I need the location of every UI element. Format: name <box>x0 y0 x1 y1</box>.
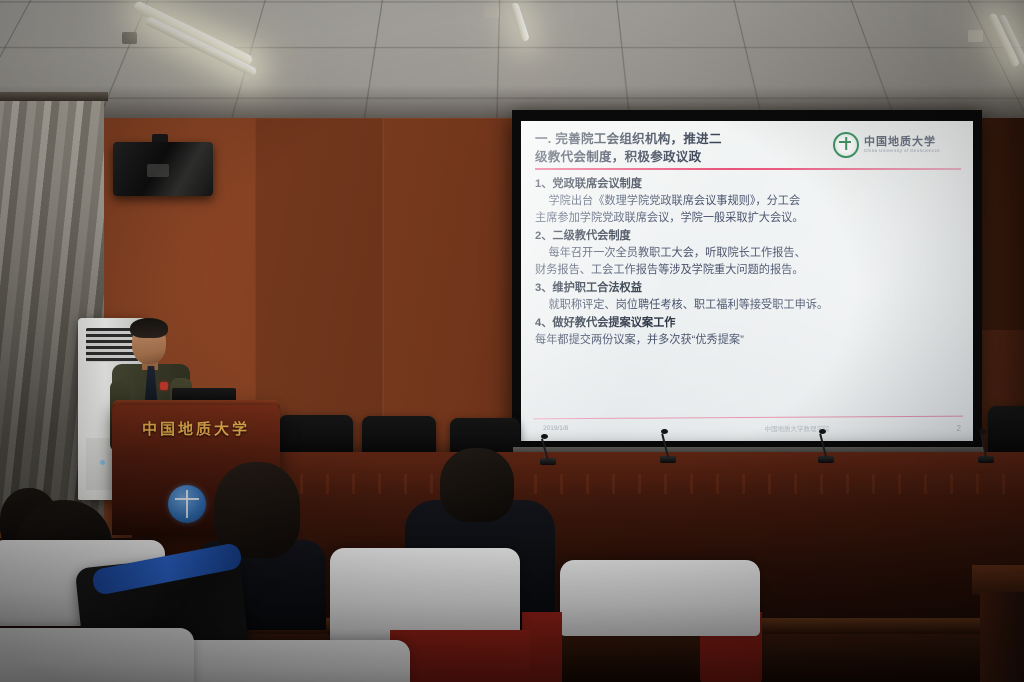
presenter-badge <box>160 382 168 390</box>
slide-title: 一. 完善院工会组织机构，推进二 级教代会制度，积极参政议政 <box>535 131 827 167</box>
section-title: 二级教代会制度 <box>552 230 630 242</box>
section-body-line: 就职称评定、岗位聘任考核、职工福利等接受职工申诉。 <box>535 297 961 314</box>
conference-room-photo: 一. 完善院工会组织机构，推进二 级教代会制度，积极参政议政 中国地质大学 Ch… <box>0 0 1024 682</box>
footer-row: 2019/1/8 中国地质大学数理学院 2 <box>521 423 973 433</box>
slide-organization: 中国地质大学数理学院 <box>663 423 931 433</box>
section-body-line: 学院出台《数理学院党政联席会议事规则》，分工会 <box>535 193 961 210</box>
section-heading: 2、二级教代会制度 <box>535 228 961 245</box>
curtain-rod <box>0 92 108 101</box>
slide-footer: 2019/1/8 中国地质大学数理学院 2 <box>521 415 973 441</box>
light-mount <box>968 30 983 42</box>
section-number: 4、 <box>535 315 552 332</box>
slide-title-line-2: 级教代会制度，积极参政议政 <box>535 149 827 167</box>
section-heading: 3、维护职工合法权益 <box>535 280 961 297</box>
side-desk <box>972 565 1024 595</box>
section-body-line: 每年召开一次全员教职工大会，听取院长工作报告、 <box>535 245 961 262</box>
section-body-line: 每年都提交两份议案，并多次获“优秀提案” <box>535 332 961 349</box>
slide-date: 2019/1/8 <box>543 425 663 432</box>
auditorium-seat-frame <box>390 630 530 682</box>
section-number: 1、 <box>535 176 552 193</box>
title-underline <box>535 168 961 170</box>
presentation-slide: 一. 完善院工会组织机构，推进二 级教代会制度，积极参政议政 中国地质大学 Ch… <box>521 121 973 441</box>
section-title: 做好教代会提案议案工作 <box>552 317 675 329</box>
audience-member-head <box>440 448 514 522</box>
presenter-hair <box>130 318 168 338</box>
light-mount <box>122 32 137 44</box>
section-number: 3、 <box>535 280 552 297</box>
slide-title-line-1: 一. 完善院工会组织机构，推进二 <box>535 131 827 149</box>
projection-screen: 一. 完善院工会组织机构，推进二 级教代会制度，积极参政议政 中国地质大学 Ch… <box>521 121 973 441</box>
table-carving <box>248 474 1024 494</box>
footer-divider <box>533 416 963 420</box>
section-body-line: 主席参加学院党政联席会议，学院一般采取扩大会议。 <box>535 210 961 227</box>
section-heading: 4、做好教代会提案议案工作 <box>535 315 961 332</box>
university-crest-icon <box>833 132 859 158</box>
university-logo-text: 中国地质大学 China University of Geosciences <box>864 137 940 153</box>
section-title: 维护职工合法权益 <box>552 282 642 294</box>
section-title: 党政联席会议制度 <box>552 178 642 190</box>
section-body-line: 财务报告、工会工作报告等涉及学院重大问题的报告。 <box>535 262 961 279</box>
university-name-en: China University of Geosciences <box>864 149 940 153</box>
wall-speaker-icon <box>113 142 213 196</box>
ac-power-led <box>100 460 105 465</box>
globe-emblem-icon <box>168 485 206 523</box>
slide-section: 4、做好教代会提案议案工作 每年都提交两份议案，并多次获“优秀提案” <box>535 315 961 349</box>
slide-section: 2、二级教代会制度 每年召开一次全员教职工大会，听取院长工作报告、 财务报告、工… <box>535 228 961 279</box>
auditorium-seat <box>560 560 760 636</box>
slide-header: 一. 完善院工会组织机构，推进二 级教代会制度，积极参政议政 中国地质大学 Ch… <box>535 131 961 167</box>
auditorium-seat <box>0 628 194 682</box>
university-name-cn: 中国地质大学 <box>864 137 940 149</box>
university-logo: 中国地质大学 China University of Geosciences <box>833 131 961 158</box>
light-mount <box>484 6 499 18</box>
auditorium-seat <box>160 640 410 682</box>
slide-section: 1、党政联席会议制度 学院出台《数理学院党政联席会议事规则》，分工会 主席参加学… <box>535 176 961 227</box>
section-heading: 1、党政联席会议制度 <box>535 176 961 193</box>
slide-section: 3、维护职工合法权益 就职称评定、岗位聘任考核、职工福利等接受职工申诉。 <box>535 280 961 314</box>
slide-page-number: 2 <box>931 424 961 433</box>
section-number: 2、 <box>535 228 552 245</box>
slide-body: 1、党政联席会议制度 学院出台《数理学院党政联席会议事规则》，分工会 主席参加学… <box>535 176 961 349</box>
side-desk-base <box>980 592 1024 682</box>
podium-inscription: 中国地质大学 <box>118 418 274 439</box>
